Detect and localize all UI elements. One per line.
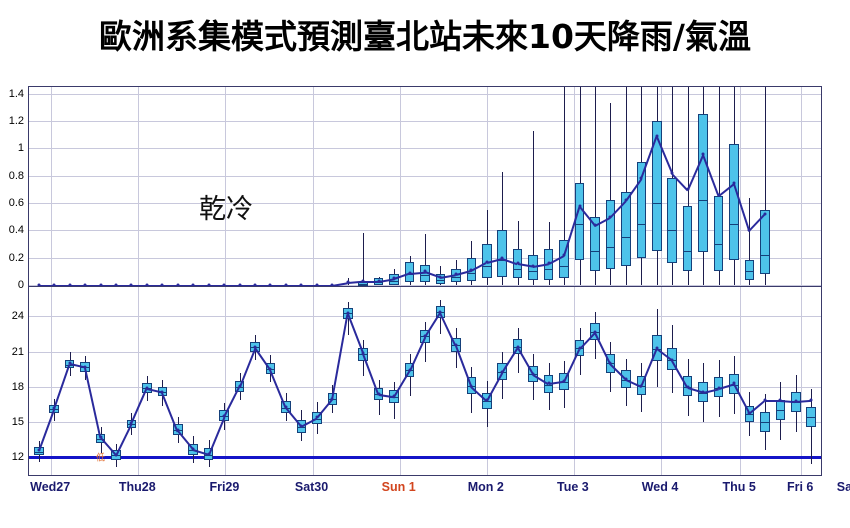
- ensemble-mean-point: [238, 384, 241, 387]
- y-axis-tick-label: 12: [12, 451, 29, 463]
- ensemble-mean-point: [702, 152, 705, 155]
- ensemble-mean-point: [733, 181, 736, 184]
- x-axis-tick-label: Tue 3: [557, 480, 589, 494]
- ensemble-mean-point: [362, 351, 365, 354]
- ensemble-mean-point: [223, 415, 226, 418]
- y-axis-tick-label: 1.2: [9, 115, 29, 127]
- y-axis-tick-label: 18: [12, 381, 29, 393]
- ensemble-mean-point: [393, 277, 396, 280]
- ensemble-mean-point: [655, 347, 658, 350]
- y-axis-tick-label: 1: [18, 142, 29, 154]
- ensemble-mean-point: [176, 429, 179, 432]
- ensemble-mean-point: [315, 416, 318, 419]
- ensemble-mean-point: [748, 229, 751, 232]
- box-median-line: [482, 266, 492, 267]
- box-median-line: [760, 422, 770, 423]
- ensemble-mean-point: [593, 223, 596, 226]
- gridline-vertical: [225, 87, 226, 285]
- ensemble-mean-point: [794, 399, 797, 402]
- ensemble-mean-point: [686, 188, 689, 191]
- ensemble-mean-point: [671, 358, 674, 361]
- ensemble-mean-line: [393, 371, 410, 398]
- x-axis-tick-label: Sat30: [295, 480, 328, 494]
- gridline-vertical: [400, 87, 401, 285]
- ensemble-mean-point: [99, 436, 102, 439]
- ensemble-mean-line: [239, 348, 256, 388]
- ensemble-mean-point: [609, 362, 612, 365]
- gridline-vertical: [661, 287, 662, 475]
- ensemble-mean-point: [563, 380, 566, 383]
- box-plot-box: [714, 196, 724, 271]
- chart-title-bar: 歐洲系集模式預測臺北站未來10天降雨/氣溫: [0, 0, 850, 68]
- box-median-line: [698, 200, 708, 201]
- box-median-line: [575, 224, 585, 225]
- ensemble-mean-point: [702, 390, 705, 393]
- ensemble-mean-point: [624, 377, 627, 380]
- gridline-vertical: [801, 287, 802, 475]
- y-axis-tick-label: 0.2: [9, 252, 29, 264]
- reference-line: [29, 456, 821, 459]
- y-axis-tick-label: 0.6: [9, 197, 29, 209]
- ensemble-mean-point: [284, 405, 287, 408]
- ensemble-mean-point: [547, 382, 550, 385]
- ensemble-mean-point: [516, 345, 519, 348]
- ensemble-mean-point: [532, 264, 535, 267]
- ensemble-mean-point: [671, 172, 674, 175]
- ensemble-mean-point: [53, 407, 56, 410]
- box-plot-box: [683, 206, 693, 272]
- ensemble-mean-point: [532, 372, 535, 375]
- ensemble-mean-point: [84, 365, 87, 368]
- ensemble-mean-point: [114, 454, 117, 457]
- ensemble-mean-point: [68, 362, 71, 365]
- y-axis-tick-label: 15: [12, 416, 29, 428]
- gridline-vertical: [313, 287, 314, 475]
- annotation-dry-cold: 乾冷: [199, 187, 253, 226]
- box-median-line: [637, 224, 647, 225]
- gridline-vertical: [51, 287, 52, 475]
- ensemble-mean-point: [779, 398, 782, 401]
- box-median-line: [513, 269, 523, 270]
- x-axis-tick-label: Wed 4: [642, 480, 679, 494]
- box-median-line: [729, 224, 739, 225]
- ensemble-mean-point: [408, 369, 411, 372]
- ensemble-mean-point: [578, 347, 581, 350]
- ensemble-mean-point: [424, 335, 427, 338]
- ensemble-mean-point: [408, 271, 411, 274]
- ensemble-mean-line: [640, 349, 657, 387]
- ensemble-mean-point: [501, 256, 504, 259]
- ensemble-mean-point: [547, 262, 550, 265]
- gridline-vertical: [138, 287, 139, 475]
- ensemble-mean-point: [346, 281, 349, 284]
- x-axis-tick-label: Fri29: [209, 480, 239, 494]
- ensemble-mean-point: [393, 395, 396, 398]
- ensemble-mean-point: [254, 345, 257, 348]
- ensemble-mean-point: [501, 370, 504, 373]
- ensemble-mean-point: [346, 311, 349, 314]
- ensemble-mean-point: [763, 398, 766, 401]
- ensemble-mean-point: [640, 177, 643, 180]
- box-median-line: [776, 410, 786, 411]
- x-axis-tick-label: Thu 5: [723, 480, 756, 494]
- ensemble-mean-point: [563, 253, 566, 256]
- ensemble-mean-point: [331, 397, 334, 400]
- gridline-horizontal: [29, 422, 821, 423]
- ensemble-mean-point: [655, 135, 658, 138]
- box-plot-box: [698, 114, 708, 252]
- box-median-line: [652, 203, 662, 204]
- x-axis-tick-label: Sun 1: [382, 480, 416, 494]
- gridline-vertical: [740, 287, 741, 475]
- gridline-vertical: [138, 87, 139, 285]
- ensemble-mean-point: [485, 260, 488, 263]
- box-median-line: [667, 230, 677, 231]
- ensemble-mean-point: [300, 424, 303, 427]
- ensemble-mean-point: [578, 204, 581, 207]
- ensemble-mean-point: [362, 279, 365, 282]
- gridline-vertical: [801, 87, 802, 285]
- y-axis-tick-label: 0.4: [9, 224, 29, 236]
- ensemble-mean-line: [733, 384, 750, 414]
- box-whisker: [363, 233, 364, 285]
- box-median-line: [806, 417, 816, 418]
- x-axis-tick-label: Thu28: [119, 480, 156, 494]
- ensemble-mean-line: [161, 392, 178, 432]
- box-median-line: [683, 251, 693, 252]
- ensemble-mean-point: [377, 279, 380, 282]
- box-median-line: [760, 255, 770, 256]
- ensemble-mean-point: [470, 384, 473, 387]
- ensemble-mean-point: [593, 330, 596, 333]
- box-median-line: [606, 247, 616, 248]
- ensemble-mean-point: [269, 368, 272, 371]
- ensemble-mean-point: [207, 452, 210, 455]
- ensemble-mean-point: [686, 385, 689, 388]
- box-plot-box: [667, 178, 677, 263]
- box-median-line: [389, 281, 399, 282]
- gridline-vertical: [51, 87, 52, 285]
- ensemble-mean-point: [624, 199, 627, 202]
- temperature-panel: 1215182124低: [28, 286, 822, 476]
- ensemble-mean-line: [131, 389, 148, 425]
- temperature-plot-area: 1215182124低: [29, 287, 821, 475]
- box-plot-box: [745, 260, 755, 279]
- box-median-line: [559, 266, 569, 267]
- box-plot-box: [760, 210, 770, 274]
- y-axis-tick-label: 1.4: [9, 88, 29, 100]
- ensemble-mean-point: [439, 275, 442, 278]
- gridline-vertical: [225, 287, 226, 475]
- box-median-line: [714, 244, 724, 245]
- ensemble-mean-point: [485, 398, 488, 401]
- ensemble-mean-line: [362, 353, 379, 395]
- ensemble-mean-line: [563, 349, 580, 383]
- y-axis-tick-label: 24: [12, 310, 29, 322]
- box-median-line: [436, 280, 446, 281]
- ensemble-mean-line: [84, 368, 101, 439]
- ensemble-mean-point: [717, 193, 720, 196]
- box-median-line: [745, 271, 755, 272]
- ensemble-mean-point: [717, 387, 720, 390]
- box-median-line: [451, 277, 461, 278]
- ensemble-mean-point: [377, 392, 380, 395]
- box-plot-box: [729, 144, 739, 260]
- box-plot-box: [575, 183, 585, 261]
- box-median-line: [528, 271, 538, 272]
- ensemble-mean-line: [38, 409, 55, 452]
- ensemble-mean-point: [810, 398, 813, 401]
- ensemble-mean-line: [671, 360, 688, 388]
- box-median-line: [590, 251, 600, 252]
- forecast-chart-stack: 00.20.40.60.811.21.4 乾冷 1215182124低 Wed2…: [0, 68, 850, 528]
- ensemble-mean-point: [424, 270, 427, 273]
- ensemble-mean-line: [115, 424, 132, 457]
- ensemble-mean-point: [37, 449, 40, 452]
- gridline-vertical: [313, 87, 314, 285]
- ensemble-mean-point: [763, 212, 766, 215]
- ensemble-mean-point: [192, 448, 195, 451]
- x-axis-tick-label: Mon 2: [468, 480, 504, 494]
- bottom-spacer: [0, 500, 850, 528]
- precipitation-panel: 00.20.40.60.811.21.4 乾冷: [28, 86, 822, 286]
- ensemble-mean-point: [161, 390, 164, 393]
- ensemble-mean-point: [609, 215, 612, 218]
- gridline-vertical: [740, 87, 741, 285]
- ensemble-mean-point: [748, 411, 751, 414]
- ensemble-mean-point: [454, 273, 457, 276]
- gridline-horizontal: [29, 316, 821, 317]
- x-axis-tick-label: Sat 7: [837, 480, 850, 494]
- y-axis-tick-label: 0.8: [9, 170, 29, 182]
- ensemble-mean-point: [130, 422, 133, 425]
- y-axis-tick-label: 21: [12, 346, 29, 358]
- ensemble-mean-line: [594, 332, 611, 365]
- x-axis-tick-label: Fri 6: [787, 480, 813, 494]
- ensemble-mean-point: [516, 262, 519, 265]
- ensemble-mean-point: [439, 310, 442, 313]
- box-median-line: [544, 269, 554, 270]
- ensemble-mean-line: [270, 370, 287, 408]
- low-temperature-marker: 低: [96, 451, 105, 464]
- precipitation-plot-area: 00.20.40.60.811.21.4: [29, 87, 821, 285]
- ensemble-mean-line: [347, 313, 364, 354]
- ensemble-mean-point: [454, 343, 457, 346]
- box-plot-box: [497, 230, 507, 276]
- page-title: 歐洲系集模式預測臺北站未來10天降雨/氣溫: [99, 10, 751, 58]
- ensemble-mean-point: [733, 382, 736, 385]
- gridline-vertical: [574, 287, 575, 475]
- ensemble-mean-line: [409, 337, 426, 372]
- x-axis-tick-label: Wed27: [30, 480, 70, 494]
- box-median-line: [621, 237, 631, 238]
- box-median-line: [420, 275, 430, 276]
- ensemble-mean-point: [640, 384, 643, 387]
- ensemble-mean-point: [470, 268, 473, 271]
- ensemble-mean-line: [316, 399, 333, 419]
- ensemble-mean-point: [145, 387, 148, 390]
